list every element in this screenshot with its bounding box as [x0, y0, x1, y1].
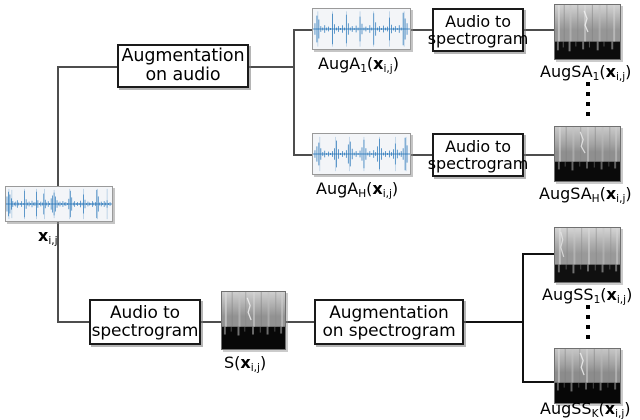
wire-augaudio-branch-top	[293, 29, 313, 31]
augmented-spectrogram-1	[554, 227, 621, 283]
box-audio-to-spectrogram-bottom-line2: spectrogram	[92, 322, 199, 340]
box-augmentation-on-audio-line2: on audio	[122, 66, 245, 85]
augsah-arg-sub: i,j	[616, 193, 625, 205]
wire-augaudio-out	[249, 66, 295, 68]
base-spec-paren-close: )	[260, 353, 266, 372]
augmented-audio-spectrogram-h-caption: AugSAH(xi,j)	[539, 186, 632, 202]
input-caption-symbol: x	[38, 226, 48, 245]
box-augmentation-on-spectrogram-line1: Augmentation	[322, 304, 455, 322]
ellipsis-dot	[586, 335, 590, 339]
augsa1-name: AugSA	[540, 62, 593, 81]
wire-s-to-augspec	[286, 321, 314, 323]
augmented-audio-1-arg: x	[373, 54, 383, 73]
augmented-audio-1-arg-sub: i,j	[383, 63, 392, 75]
augsa1-arg: x	[606, 62, 616, 81]
input-caption: xi,j	[38, 228, 58, 244]
augmented-audio-1-name: AugA	[318, 54, 360, 73]
augmented-spectrogram-k-caption: AugSSK(xi,j)	[540, 401, 631, 417]
spectrogram-icon	[555, 127, 620, 181]
box-audio-to-spectrogram-mid-line1: Audio to	[428, 138, 528, 155]
box-audio-to-spectrogram-top-line1: Audio to	[428, 13, 528, 30]
wire-a2s-to-augsa1	[524, 29, 554, 31]
spectrogram-icon	[555, 5, 620, 59]
augss1-arg-sub: i,j	[617, 294, 626, 306]
augss1-name: AugSS	[542, 285, 594, 304]
augmented-spectrogram-k	[554, 348, 621, 404]
waveform-icon	[313, 9, 410, 49]
augsa1-paren-close: )	[625, 62, 631, 81]
augah-arg: x	[372, 179, 382, 198]
wire-a2s-to-augsaH	[524, 154, 554, 156]
base-spec-name: S	[224, 353, 234, 372]
spectrogram-icon	[222, 292, 285, 349]
augssk-index: K	[592, 408, 599, 420]
augmented-spectrogram-1-caption: AugSS1(xi,j)	[542, 287, 632, 303]
waveform-icon	[313, 134, 410, 174]
ellipsis-dot	[586, 112, 590, 116]
augmented-audio-1-caption: AugA1(xi,j)	[318, 56, 399, 72]
augsah-arg: x	[606, 184, 616, 203]
wire-augaudio-branch-bottom	[293, 154, 313, 156]
wire-a2s-to-s	[201, 321, 221, 323]
augah-arg-sub: i,j	[383, 188, 392, 200]
ellipsis-dot	[586, 315, 590, 319]
augmented-audio-1-paren-close: )	[393, 54, 399, 73]
augss1-arg: x	[607, 285, 617, 304]
augss1-paren-close: )	[626, 285, 632, 304]
box-audio-to-spectrogram-mid-line2: spectrogram	[428, 155, 528, 172]
ellipsis-dot	[586, 325, 590, 329]
box-augmentation-on-spectrogram-line2: on spectrogram	[322, 322, 455, 340]
base-spectrogram-caption: S(xi,j)	[224, 355, 266, 371]
wire-input-trunk	[57, 66, 59, 186]
augsah-name: AugSA	[539, 184, 592, 203]
augah-name: AugA	[316, 179, 358, 198]
input-waveform	[5, 186, 113, 222]
wire-augspec-branch-top	[522, 253, 554, 255]
wire-augspec-out	[464, 321, 524, 323]
augmented-audio-h-caption: AugAH(xi,j)	[316, 181, 398, 197]
base-spectrogram	[221, 291, 286, 350]
base-spec-arg: x	[240, 353, 250, 372]
augsa1-index: 1	[593, 71, 600, 83]
augmented-audio-spectrogram-h	[554, 126, 621, 182]
augssk-arg-sub: i,j	[615, 408, 624, 420]
box-audio-to-spectrogram-top-line2: spectrogram	[428, 30, 528, 47]
augss1-index: 1	[594, 294, 601, 306]
box-audio-to-spectrogram-mid[interactable]: Audio to spectrogram	[432, 133, 524, 177]
wire-augspec-branch-bottom	[522, 381, 554, 383]
box-augmentation-on-audio-line1: Augmentation	[122, 47, 245, 66]
wire-to-audio-to-spec-bottom	[57, 321, 89, 323]
augmented-audio-1-index: 1	[360, 63, 367, 75]
ellipsis-augsa	[585, 82, 591, 116]
box-augmentation-on-audio[interactable]: Augmentation on audio	[117, 44, 249, 88]
base-spec-arg-sub: i,j	[251, 362, 260, 374]
ellipsis-dot	[586, 92, 590, 96]
ellipsis-augss	[585, 305, 591, 339]
augsah-paren-close: )	[625, 184, 631, 203]
input-caption-sub: i,j	[48, 235, 57, 247]
waveform-icon	[6, 187, 112, 221]
wire-augaudio-bus	[293, 29, 295, 155]
augmented-audio-spectrogram-1-caption: AugSA1(xi,j)	[540, 64, 631, 80]
ellipsis-dot	[586, 102, 590, 106]
wire-augspec-bus	[522, 253, 524, 383]
diagram-canvas: xi,j Augmentation on audio	[0, 0, 640, 409]
box-augmentation-on-spectrogram[interactable]: Augmentation on spectrogram	[314, 299, 464, 345]
ellipsis-dot	[586, 305, 590, 309]
augsa1-arg-sub: i,j	[616, 71, 625, 83]
spectrogram-icon	[555, 349, 620, 403]
ellipsis-dot	[586, 82, 590, 86]
wire-to-aug-audio	[57, 66, 117, 68]
augmented-audio-1	[312, 8, 411, 50]
augah-paren-close: )	[392, 179, 398, 198]
augsah-index: H	[592, 193, 600, 205]
box-audio-to-spectrogram-bottom-line1: Audio to	[92, 304, 199, 322]
augah-index: H	[358, 188, 366, 200]
augmented-audio-spectrogram-1	[554, 4, 621, 60]
box-audio-to-spectrogram-top[interactable]: Audio to spectrogram	[432, 8, 524, 52]
spectrogram-icon	[555, 228, 620, 282]
augmented-audio-h	[312, 133, 411, 175]
box-audio-to-spectrogram-bottom[interactable]: Audio to spectrogram	[89, 299, 201, 345]
